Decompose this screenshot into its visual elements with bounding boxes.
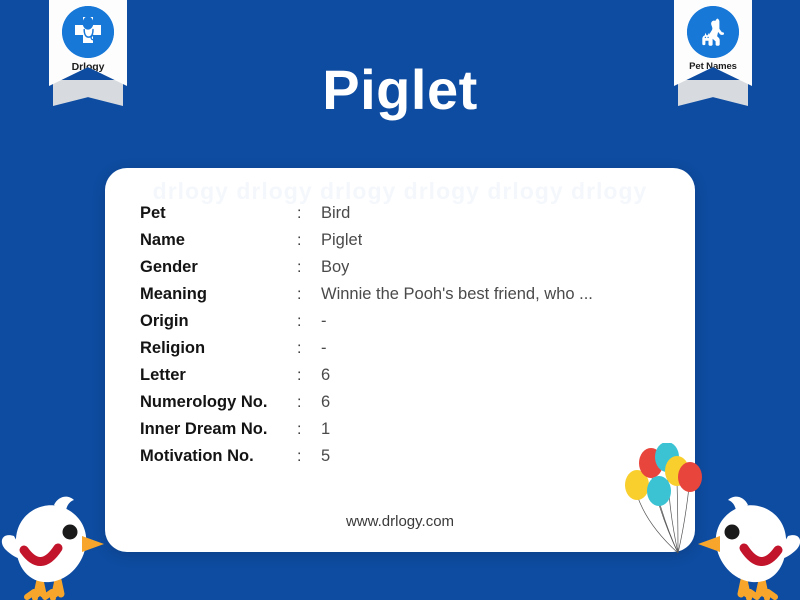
table-row: Name : Piglet (140, 231, 675, 258)
row-label: Meaning (140, 285, 297, 304)
card-watermark: drlogy drlogy drlogy drlogy drlogy drlog… (105, 178, 695, 205)
row-label: Gender (140, 258, 297, 277)
dog-and-cat-silhouette-icon (687, 6, 739, 58)
row-value: Piglet (321, 231, 362, 250)
row-label: Name (140, 231, 297, 250)
row-value: 6 (321, 366, 330, 385)
row-label: Inner Dream No. (140, 420, 297, 439)
table-row: Letter : 6 (140, 366, 675, 393)
table-row: Religion : - (140, 339, 675, 366)
row-separator: : (297, 340, 321, 358)
row-separator: : (297, 286, 321, 304)
row-separator: : (297, 232, 321, 250)
row-separator: : (297, 394, 321, 412)
row-separator: : (297, 259, 321, 277)
row-value: 1 (321, 420, 330, 439)
row-value: 5 (321, 447, 330, 466)
bird-icon (0, 492, 106, 600)
table-row: Meaning : Winnie the Pooh's best friend,… (140, 285, 675, 312)
drlogy-badge[interactable]: Drlogy (49, 0, 127, 86)
row-value: Bird (321, 204, 350, 223)
table-row: Inner Dream No. : 1 (140, 420, 675, 447)
row-label: Origin (140, 312, 297, 331)
pet-names-badge-label: Pet Names (689, 61, 737, 72)
row-value: Boy (321, 258, 349, 277)
table-row: Origin : - (140, 312, 675, 339)
row-separator: : (297, 448, 321, 466)
row-value: - (321, 339, 327, 358)
bird-icon (696, 492, 800, 600)
row-value: Winnie the Pooh's best friend, who ... (321, 285, 593, 304)
row-label: Letter (140, 366, 297, 385)
row-label: Religion (140, 339, 297, 358)
ribbon-body: Pet Names (674, 0, 752, 86)
table-row: Numerology No. : 6 (140, 393, 675, 420)
table-row: Gender : Boy (140, 258, 675, 285)
row-label: Pet (140, 204, 297, 223)
pet-detail-card: drlogy drlogy drlogy drlogy drlogy drlog… (105, 168, 695, 552)
pet-detail-list: Pet : Bird Name : Piglet Gender : Boy Me… (140, 204, 675, 474)
ribbon-body: Drlogy (49, 0, 127, 86)
row-value: 6 (321, 393, 330, 412)
drlogy-badge-label: Drlogy (72, 61, 105, 73)
row-separator: : (297, 313, 321, 331)
row-value: - (321, 312, 327, 331)
table-row: Pet : Bird (140, 204, 675, 231)
row-separator: : (297, 367, 321, 385)
drlogy-medical-cross-stethoscope-icon (62, 6, 114, 58)
row-label: Numerology No. (140, 393, 297, 412)
row-separator: : (297, 421, 321, 439)
table-row: Motivation No. : 5 (140, 447, 675, 474)
row-separator: : (297, 205, 321, 223)
pet-names-badge[interactable]: Pet Names (674, 0, 752, 86)
row-label: Motivation No. (140, 447, 297, 466)
website-url: www.drlogy.com (105, 513, 695, 530)
